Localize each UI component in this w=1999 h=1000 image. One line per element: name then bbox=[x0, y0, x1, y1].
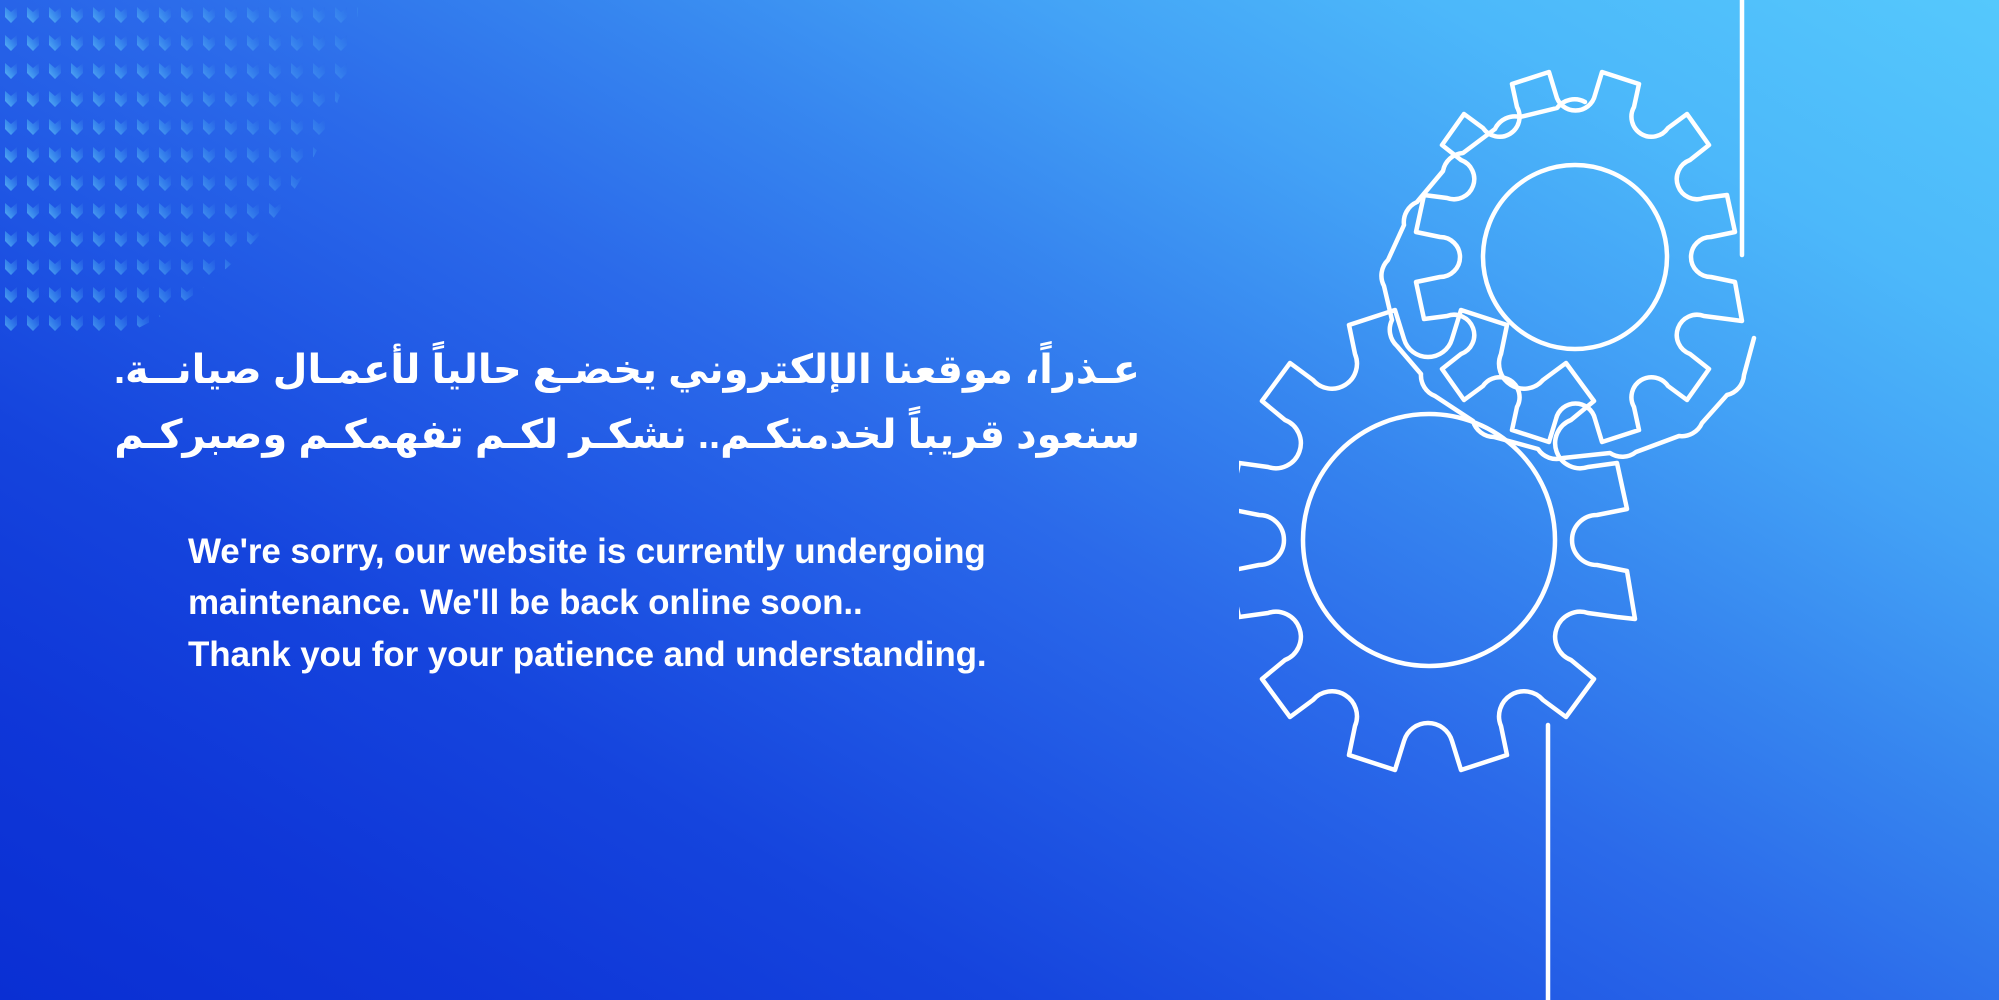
small-gear-outline bbox=[1416, 72, 1742, 442]
chevron-pattern-decoration bbox=[0, 0, 420, 340]
maintenance-page: عـذراً، موقعنا الإلكتروني يخضـع حالياً ل… bbox=[0, 0, 1999, 1000]
gears-decoration bbox=[1239, 0, 1999, 1000]
large-gear-outline bbox=[1239, 310, 1635, 770]
english-line-2: maintenance. We'll be back online soon.. bbox=[188, 577, 1188, 629]
english-line-1: We're sorry, our website is currently un… bbox=[188, 526, 1188, 578]
english-line-3: Thank you for your patience and understa… bbox=[188, 629, 1188, 681]
gears-svg bbox=[1239, 0, 1999, 1000]
arabic-line-2: سنعود قريباً لخدمتكـم.. نشكـر لكـم تفهمك… bbox=[188, 403, 1140, 468]
large-gear-inner-circle bbox=[1303, 414, 1555, 666]
small-gear-teeth bbox=[1381, 99, 1754, 459]
large-gear bbox=[1239, 310, 1635, 770]
chevron-pattern-svg bbox=[0, 0, 420, 340]
arabic-message: عـذراً، موقعنا الإلكتروني يخضـع حالياً ل… bbox=[188, 338, 1140, 468]
small-gear-inner-circle bbox=[1483, 165, 1667, 349]
english-message: We're sorry, our website is currently un… bbox=[188, 468, 1188, 681]
small-gear bbox=[1367, 68, 1812, 503]
message-block: عـذراً، موقعنا الإلكتروني يخضـع حالياً ل… bbox=[188, 338, 1188, 681]
arabic-line-1: عـذراً، موقعنا الإلكتروني يخضـع حالياً ل… bbox=[188, 338, 1140, 403]
